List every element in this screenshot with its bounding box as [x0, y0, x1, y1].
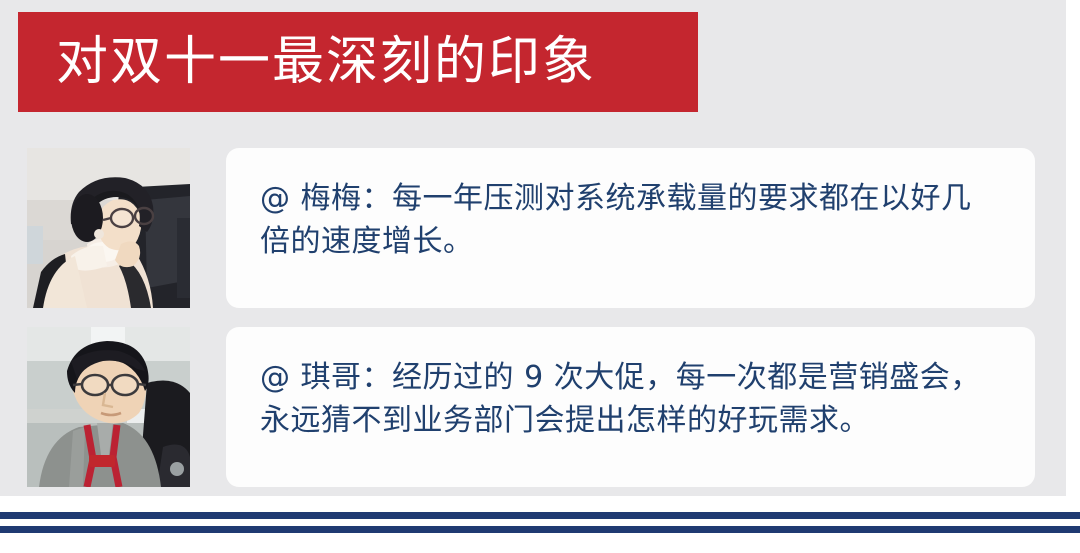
avatar-photo-qige-image — [27, 327, 190, 487]
quote-text: @ 琪哥：经历过的 9 次大促，每一次都是营销盛会，永远猜不到业务部门会提出怎样… — [260, 357, 1001, 442]
quote-card: @ 琪哥：经历过的 9 次大促，每一次都是营销盛会，永远猜不到业务部门会提出怎样… — [226, 327, 1035, 487]
footer-stripe-bottom — [0, 526, 1080, 533]
quote-text: @ 梅梅：每一年压测对系统承载量的要求都在以好几倍的速度增长。 — [260, 178, 1001, 263]
avatar-photo-meimei — [27, 148, 190, 308]
avatar-photo-meimei-image — [27, 148, 190, 308]
page-title: 对双十一最深刻的印象 — [56, 36, 596, 88]
title-banner: 对双十一最深刻的印象 — [18, 12, 698, 112]
quote-row: @ 琪哥：经历过的 9 次大促，每一次都是营销盛会，永远猜不到业务部门会提出怎样… — [27, 327, 1035, 487]
footer-stripe-top — [0, 512, 1080, 519]
slide-canvas: 对双十一最深刻的印象 — [0, 0, 1080, 553]
avatar-photo-qige — [27, 327, 190, 487]
quote-row: @ 梅梅：每一年压测对系统承载量的要求都在以好几倍的速度增长。 — [27, 148, 1035, 308]
quote-card: @ 梅梅：每一年压测对系统承载量的要求都在以好几倍的速度增长。 — [226, 148, 1035, 308]
